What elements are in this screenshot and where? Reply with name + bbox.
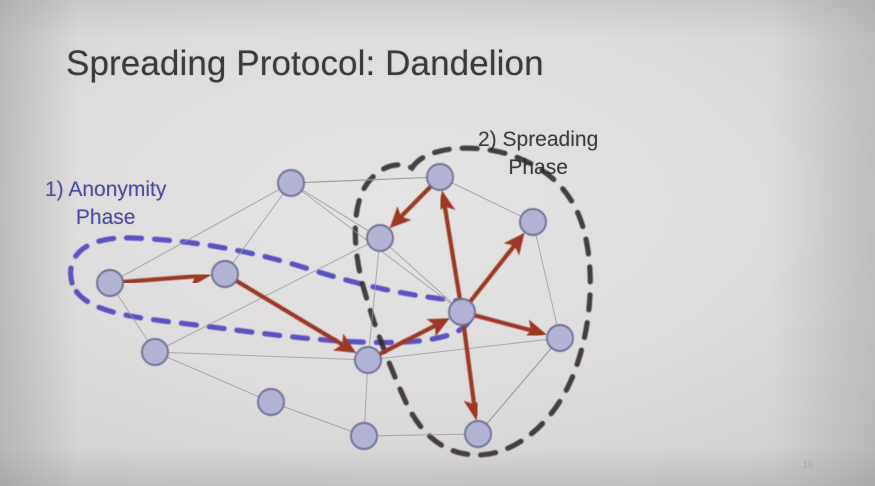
node-mid-left[interactable]: [142, 339, 168, 365]
graph-edge: [155, 352, 368, 360]
propagation-arrows-layer: [121, 185, 542, 416]
arrow-spread-hub-bottom: [463, 323, 475, 416]
graph-edge: [110, 183, 291, 283]
anonymity-region: [71, 238, 471, 343]
node-spread-bottom[interactable]: [465, 421, 491, 447]
graph-edge: [364, 434, 478, 436]
node-relay-2[interactable]: [355, 347, 381, 373]
node-relay-1[interactable]: [212, 261, 238, 287]
node-source-left[interactable]: [97, 270, 123, 296]
node-spread-top[interactable]: [427, 164, 453, 190]
arrow-spread-hub-upperright: [469, 237, 522, 304]
graph-edge: [291, 183, 380, 238]
node-spread-right[interactable]: [547, 325, 573, 351]
graph-edge: [478, 338, 560, 434]
graph-edge: [271, 402, 364, 436]
graph-edge: [155, 352, 271, 402]
arrow-spread-top-upperleft: [393, 185, 432, 225]
node-top-left[interactable]: [278, 170, 304, 196]
arrow-anon-1: [121, 275, 207, 282]
node-hub[interactable]: [449, 299, 475, 325]
phase-regions-layer: [71, 148, 591, 455]
slide-canvas: Spreading Protocol: Dandelion 1) Anonymi…: [0, 0, 875, 486]
node-bottom-left[interactable]: [258, 389, 284, 415]
node-spread-upper-left[interactable]: [367, 225, 393, 251]
node-spread-upper-right[interactable]: [520, 209, 546, 235]
arrow-spread-hub-top: [443, 195, 460, 301]
node-bottom-mid[interactable]: [351, 423, 377, 449]
graph-edge: [533, 222, 560, 338]
network-diagram: [0, 0, 875, 486]
graph-edges-layer: [110, 177, 560, 436]
arrow-spread-hub-right: [473, 315, 542, 333]
page-number: 15: [803, 460, 813, 470]
arrow-anon-2: [234, 280, 352, 351]
graph-edge: [440, 177, 533, 222]
